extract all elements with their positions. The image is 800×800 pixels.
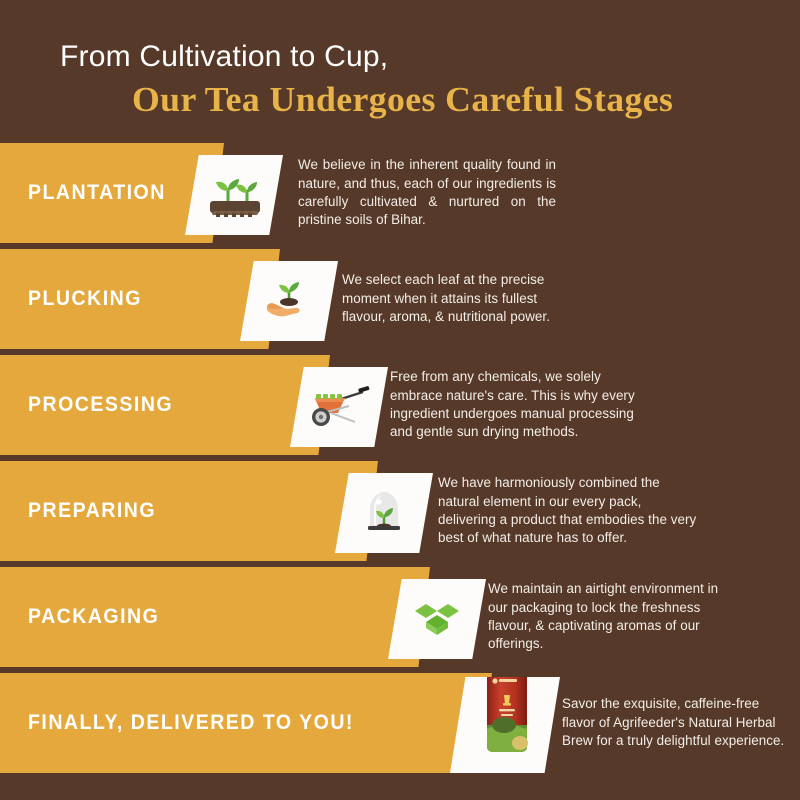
step-description-text: We have harmoniously combined the natura… [438, 474, 700, 548]
step-icon-card [335, 473, 433, 553]
step-icon-card [290, 367, 388, 447]
footer-strip [0, 780, 800, 800]
open-box-diamond-icon [410, 592, 464, 646]
hand-holding-sprout-icon [259, 274, 319, 328]
step-description: We believe in the inherent quality found… [298, 143, 556, 243]
step-description-text: We maintain an airtight environment in o… [488, 580, 728, 654]
step-row-plucking[interactable]: PLUCKING We select each leaf at the prec… [0, 249, 800, 355]
step-description-text: We believe in the inherent quality found… [298, 156, 556, 230]
plant-under-glass-dome-icon [356, 485, 412, 541]
step-row-delivered[interactable]: FINALLY, DELIVERED TO YOU! [0, 673, 800, 779]
header-title-line2: Our Tea Undergoes Careful Stages [132, 80, 673, 120]
step-row-plantation[interactable]: PLANTATION [0, 143, 800, 249]
wheelbarrow-icon [305, 382, 373, 432]
step-description-text: Free from any chemicals, we solely embra… [390, 368, 648, 442]
step-description: We maintain an airtight environment in o… [488, 567, 728, 667]
step-icon-card [450, 677, 560, 773]
header: From Cultivation to Cup, Our Tea Undergo… [0, 0, 800, 143]
step-label: PLUCKING [28, 249, 142, 349]
step-description: Savor the exquisite, caffeine-free flavo… [562, 673, 790, 773]
infographic-page: From Cultivation to Cup, Our Tea Undergo… [0, 0, 800, 800]
header-title-line1: From Cultivation to Cup, [60, 40, 388, 74]
step-label: PLANTATION [28, 143, 166, 243]
step-icon-card [185, 155, 283, 235]
step-description: We have harmoniously combined the natura… [438, 461, 700, 561]
seedlings-in-soil-icon [202, 169, 266, 221]
step-label: PROCESSING [28, 355, 173, 455]
step-row-processing[interactable]: PROCESSING [0, 355, 800, 461]
step-description: We select each leaf at the precise momen… [342, 249, 572, 349]
steps-list: PLANTATION [0, 143, 800, 780]
step-row-packaging[interactable]: PACKAGING We maintain an airtight enviro… [0, 567, 800, 673]
step-description: Free from any chemicals, we solely embra… [390, 355, 648, 455]
step-label: PREPARING [28, 461, 156, 561]
step-description-text: We select each leaf at the precise momen… [342, 271, 572, 326]
step-label: FINALLY, DELIVERED TO YOU! [28, 673, 354, 773]
step-description-text: Savor the exquisite, caffeine-free flavo… [562, 695, 790, 750]
step-label: PACKAGING [28, 567, 159, 667]
step-row-preparing[interactable]: PREPARING We have harmoniously combined … [0, 461, 800, 567]
step-icon-card [240, 261, 338, 341]
step-icon-card [388, 579, 486, 659]
